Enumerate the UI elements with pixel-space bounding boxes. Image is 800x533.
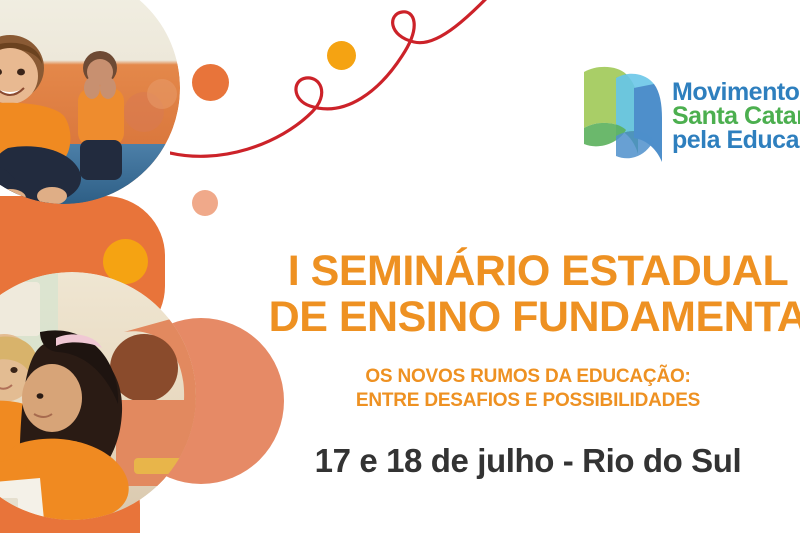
event-title-line-1: I SEMINÁRIO ESTADUAL: [258, 248, 800, 294]
logo-line-pela-educacao: pela Educaçã: [672, 128, 800, 152]
event-title: I SEMINÁRIO ESTADUAL DE ENSINO FUNDAMENT…: [258, 248, 800, 341]
logo-line-santa-catarina: Santa Catarin: [672, 104, 800, 128]
logo-line-movimento: Movimento: [672, 80, 800, 104]
event-date-location: 17 e 18 de julho - Rio do Sul: [258, 442, 798, 480]
event-subtitle-line-2: ENTRE DESAFIOS E POSSIBILIDADES: [258, 389, 798, 413]
movimento-book-mark-icon: [578, 62, 664, 170]
event-subtitle-line-1: OS NOVOS RUMOS DA EDUCAÇÃO:: [258, 365, 798, 389]
event-banner: Movimento Santa Catarin pela Educaçã I S…: [0, 0, 800, 533]
logo-movimento-santa-catarina[interactable]: Movimento Santa Catarin pela Educaçã: [578, 62, 800, 170]
photo-children-classroom: [0, 272, 196, 520]
event-title-line-2: DE ENSINO FUNDAMENTA: [258, 294, 800, 340]
photo-children-gym: [0, 0, 180, 204]
headline-block: I SEMINÁRIO ESTADUAL DE ENSINO FUNDAMENT…: [258, 248, 800, 480]
decorative-squiggle-line: [170, 0, 530, 194]
event-subtitle: OS NOVOS RUMOS DA EDUCAÇÃO: ENTRE DESAFI…: [258, 365, 798, 413]
logo-wordmark: Movimento Santa Catarin pela Educaçã: [672, 80, 800, 152]
